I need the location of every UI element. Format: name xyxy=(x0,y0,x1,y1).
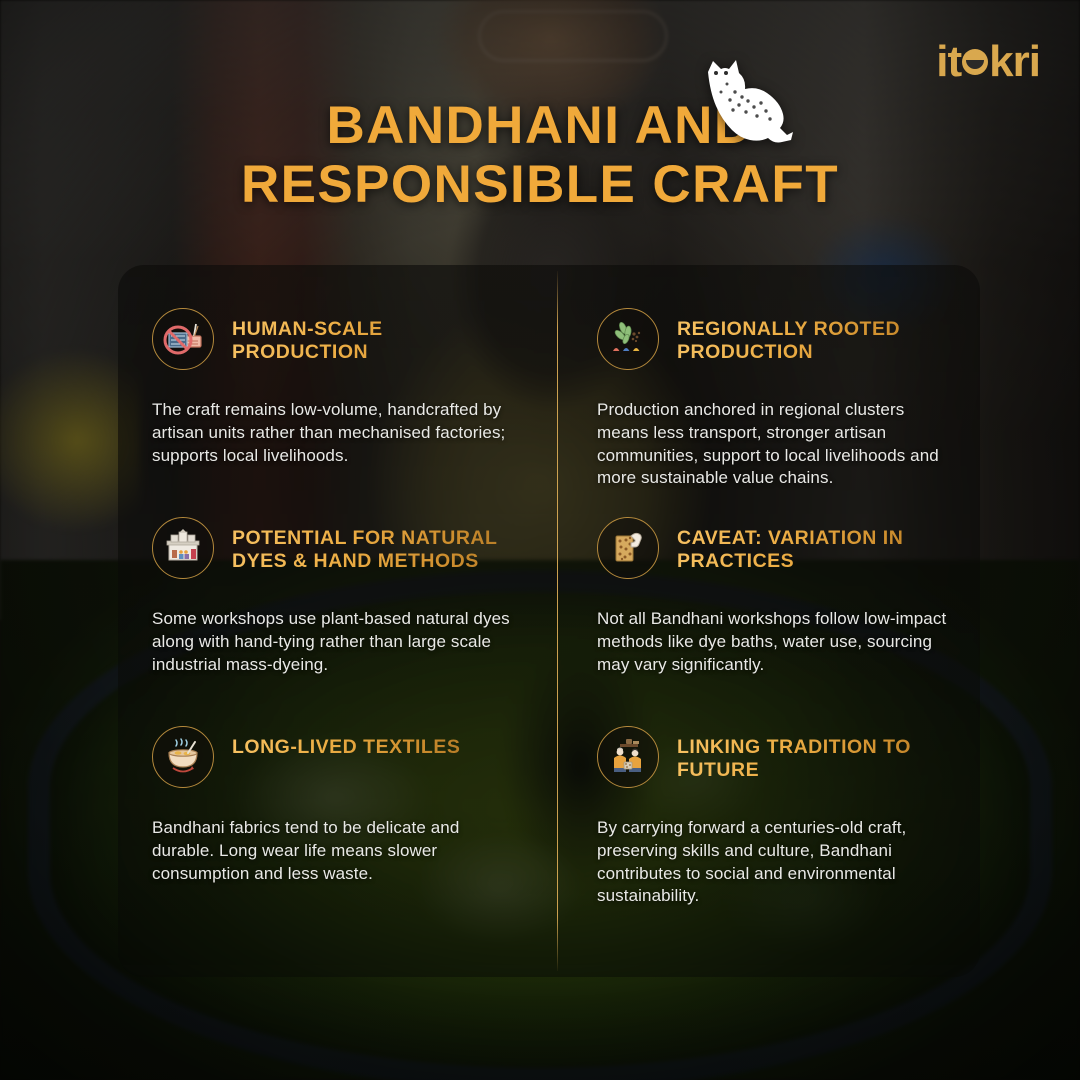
card-human-scale-production: HUMAN-SCALE PRODUCTION The craft remains… xyxy=(118,265,557,474)
card-header: LONG-LIVED TEXTILES xyxy=(152,724,523,788)
title-line-2: RESPONSIBLE CRAFT xyxy=(0,155,1080,214)
card-title: CAVEAT: VARIATION IN PRACTICES xyxy=(677,527,937,573)
card-title: LONG-LIVED TEXTILES xyxy=(232,736,460,759)
logo-text-after: kri xyxy=(989,40,1040,84)
two-artisans-icon xyxy=(597,726,659,788)
logo-text-before: it xyxy=(936,40,961,84)
natural-dye-leaves-icon xyxy=(597,308,659,370)
card-regionally-rooted-production: REGIONALLY ROOTED PRODUCTION Production … xyxy=(557,265,980,474)
page-title: BANDHANI AND RESPONSIBLE CRAFT xyxy=(0,96,1080,215)
itokri-logo[interactable]: itkri xyxy=(936,40,1040,84)
title-line-1: BANDHANI AND xyxy=(0,96,1080,155)
card-caveat-variation-in-practices: CAVEAT: VARIATION IN PRACTICES Not all B… xyxy=(557,474,980,683)
card-title: LINKING TRADITION TO FUTURE xyxy=(677,736,937,782)
infographic-poster: itkri BANDHANI AND RESPONSIBLE CRAFT xyxy=(0,0,1080,1080)
card-title: HUMAN-SCALE PRODUCTION xyxy=(232,318,502,364)
hand-holding-fabric-icon xyxy=(597,517,659,579)
card-long-lived-textiles: LONG-LIVED TEXTILES Bandhani fabrics ten… xyxy=(118,683,557,977)
card-header: POTENTIAL FOR NATURAL DYES & HAND METHOD… xyxy=(152,515,523,579)
card-header: HUMAN-SCALE PRODUCTION xyxy=(152,306,523,370)
card-potential-for-natural-dyes: POTENTIAL FOR NATURAL DYES & HAND METHOD… xyxy=(118,474,557,683)
content-panel: HUMAN-SCALE PRODUCTION The craft remains… xyxy=(118,265,980,977)
card-body: Bandhani fabrics tend to be delicate and… xyxy=(152,817,523,885)
bandhani-cat-mascot-icon xyxy=(694,56,798,156)
card-body: Some workshops use plant-based natural d… xyxy=(152,608,523,676)
card-title: POTENTIAL FOR NATURAL DYES & HAND METHOD… xyxy=(232,527,502,573)
card-linking-tradition-to-future: LINKING TRADITION TO FUTURE By carrying … xyxy=(557,683,980,977)
artisan-workshop-icon xyxy=(152,517,214,579)
cards-grid: HUMAN-SCALE PRODUCTION The craft remains… xyxy=(118,265,980,977)
steaming-dye-pot-icon xyxy=(152,726,214,788)
card-body: By carrying forward a centuries-old craf… xyxy=(597,817,958,908)
no-factory-icon xyxy=(152,308,214,370)
card-title: REGIONALLY ROOTED PRODUCTION xyxy=(677,318,937,364)
card-body: The craft remains low-volume, handcrafte… xyxy=(152,399,523,467)
card-header: LINKING TRADITION TO FUTURE xyxy=(597,724,958,788)
logo-basket-o-icon xyxy=(962,49,988,75)
card-body: Not all Bandhani workshops follow low-im… xyxy=(597,608,958,676)
card-header: REGIONALLY ROOTED PRODUCTION xyxy=(597,306,958,370)
card-header: CAVEAT: VARIATION IN PRACTICES xyxy=(597,515,958,579)
